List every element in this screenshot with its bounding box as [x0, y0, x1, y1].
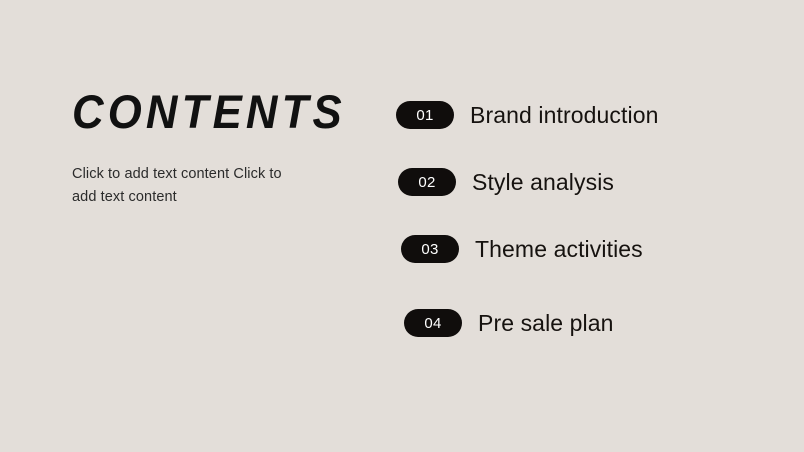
item-number-badge: 03 [401, 235, 459, 263]
item-label: Theme activities [475, 238, 643, 261]
item-number-badge: 01 [396, 101, 454, 129]
list-item[interactable]: 04 Pre sale plan [404, 309, 776, 337]
list-item[interactable]: 01 Brand introduction [396, 101, 776, 129]
subtitle-text: Click to add text content Click to add t… [72, 163, 308, 210]
title-block: CONTENTS Click to add text content Click… [72, 88, 372, 210]
page-title: CONTENTS [72, 88, 351, 135]
item-label: Style analysis [472, 171, 614, 194]
slide-canvas: CONTENTS Click to add text content Click… [0, 0, 804, 452]
item-label: Pre sale plan [478, 312, 614, 335]
item-number-badge: 02 [398, 168, 456, 196]
item-label: Brand introduction [470, 104, 658, 127]
list-item[interactable]: 03 Theme activities [401, 235, 776, 263]
list-item[interactable]: 02 Style analysis [398, 168, 776, 196]
item-number-badge: 04 [404, 309, 462, 337]
contents-list: 01 Brand introduction 02 Style analysis … [396, 101, 776, 337]
